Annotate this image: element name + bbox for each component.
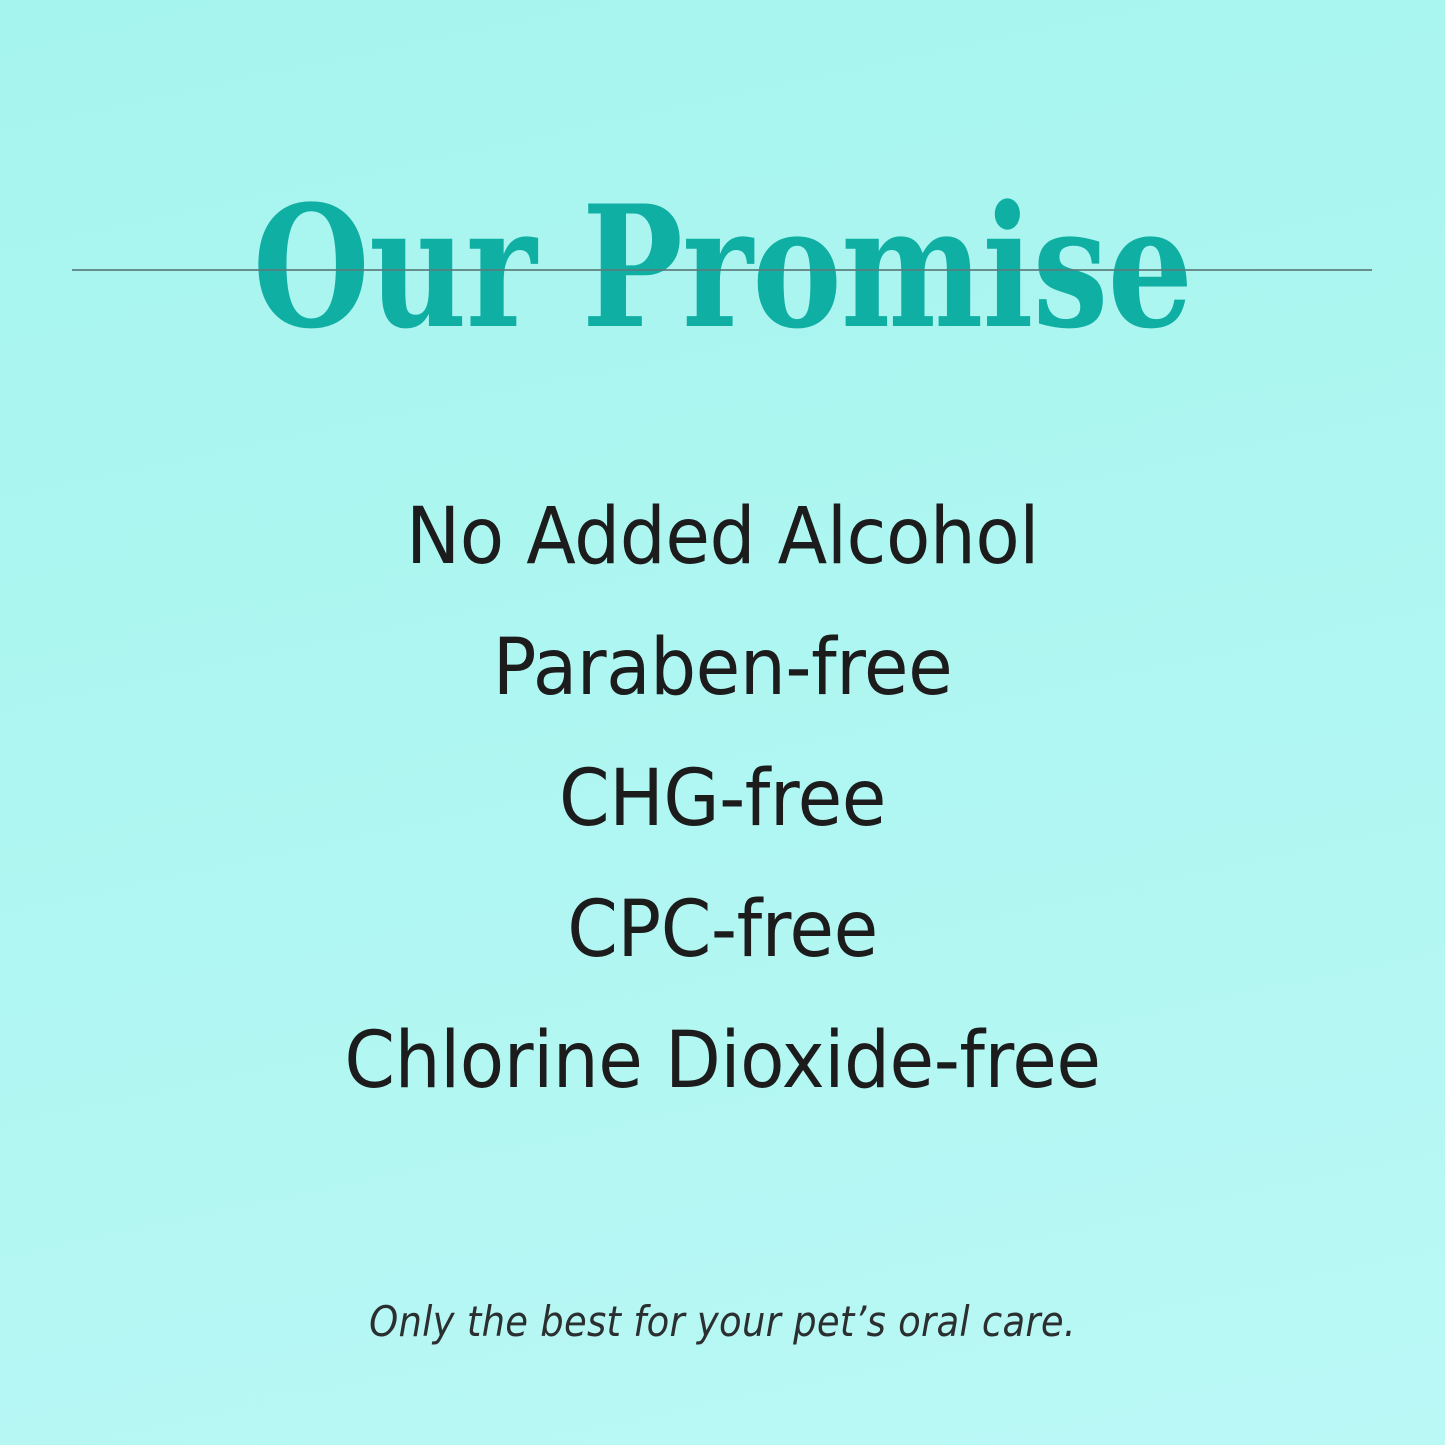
- our-promise-card: Our Promise No Added Alcohol Paraben-fre…: [0, 0, 1445, 1445]
- title-divider: [72, 269, 1372, 271]
- list-item: CPC-free: [51, 865, 1395, 996]
- list-item: No Added Alcohol: [51, 472, 1395, 603]
- header-block: Our Promise: [0, 0, 1445, 300]
- list-item: CHG-free: [51, 734, 1395, 865]
- promise-list: No Added Alcohol Paraben-free CHG-free C…: [0, 472, 1445, 1127]
- footer-tagline: Only the best for your pet’s oral care.: [87, 1296, 1359, 1348]
- page-title: Our Promise: [145, 183, 1301, 351]
- list-item: Chlorine Dioxide-free: [51, 996, 1395, 1127]
- list-item: Paraben-free: [51, 603, 1395, 734]
